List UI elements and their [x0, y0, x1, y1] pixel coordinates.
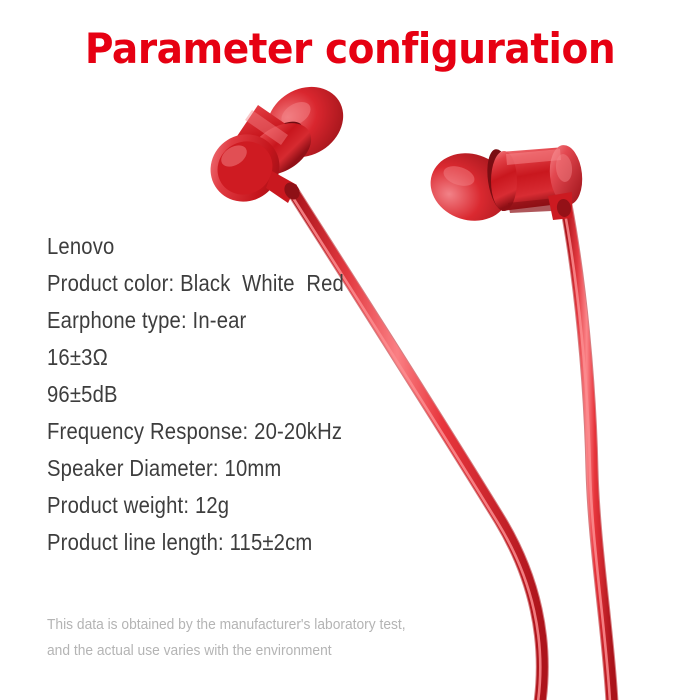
disclaimer-line-1: This data is obtained by the manufacture…	[47, 612, 479, 638]
spec-line-earphone-type: Earphone type: In-ear	[47, 302, 417, 339]
disclaimer: This data is obtained by the manufacture…	[47, 612, 517, 664]
spec-line-sensitivity: 96±5dB	[47, 376, 417, 413]
right-cable	[564, 205, 612, 700]
product-spec-page: Parameter configuration Lenovo Product c…	[0, 0, 700, 700]
left-earbud	[198, 73, 357, 215]
spec-line-brand: Lenovo	[47, 228, 417, 265]
right-earbud	[422, 143, 585, 230]
page-title: Parameter configuration	[25, 24, 676, 73]
spec-line-product-color: Product color: Black White Red	[47, 265, 417, 302]
spec-line-frequency-response: Frequency Response: 20-20kHz	[47, 413, 417, 450]
spec-line-product-weight: Product weight: 12g	[47, 487, 417, 524]
spec-line-speaker-diameter: Speaker Diameter: 10mm	[47, 450, 417, 487]
disclaimer-line-2: and the actual use varies with the envir…	[47, 638, 479, 664]
spec-line-product-line-length: Product line length: 115±2cm	[47, 524, 417, 561]
spec-line-impedance: 16±3Ω	[47, 339, 417, 376]
specification-list: Lenovo Product color: Black White Red Ea…	[47, 228, 467, 561]
